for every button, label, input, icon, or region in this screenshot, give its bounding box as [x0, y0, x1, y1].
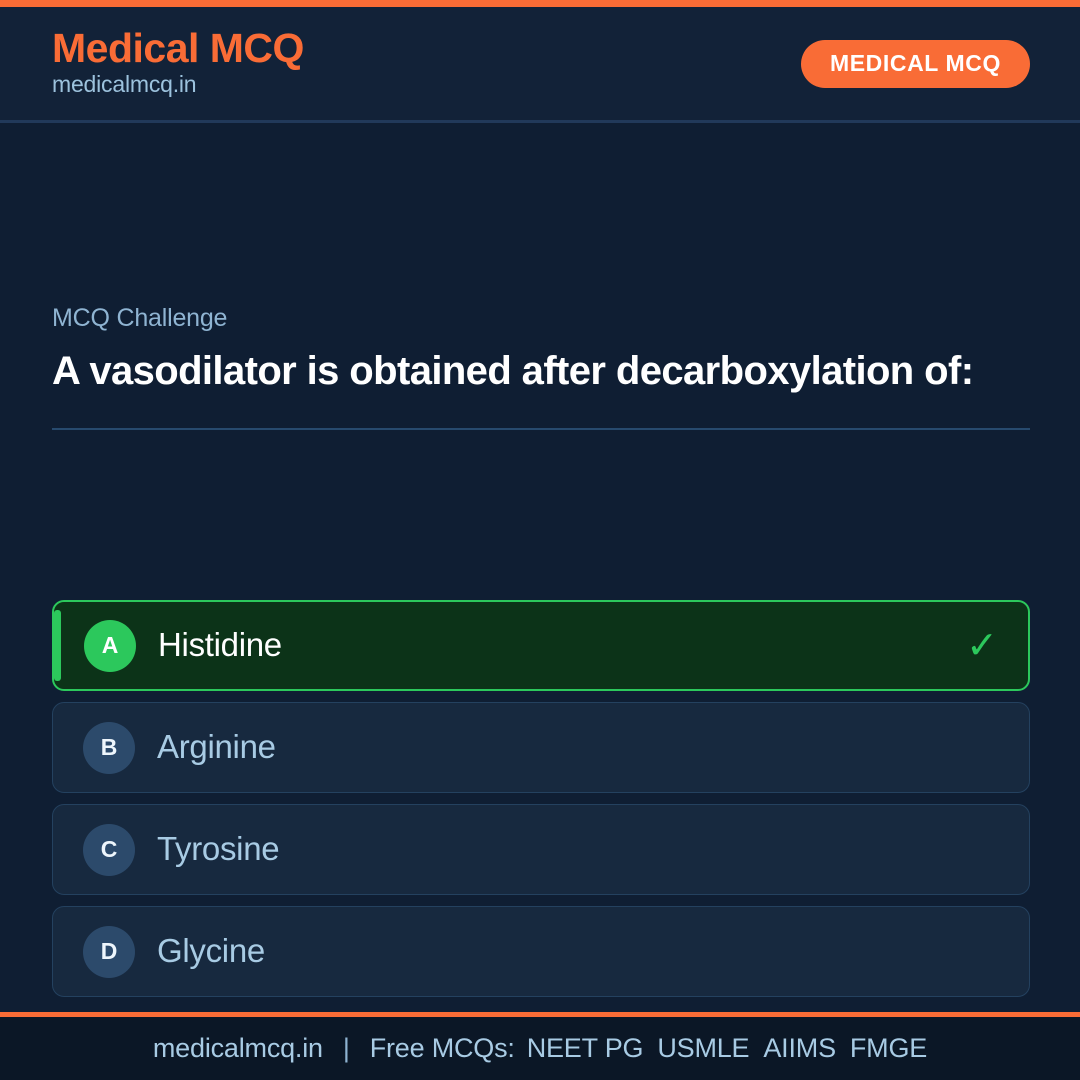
brand-subtitle: medicalmcq.in [52, 71, 304, 97]
page-header: Medical MCQ medicalmcq.in MEDICAL MCQ [0, 7, 1080, 123]
question-text: A vasodilator is obtained after decarbox… [52, 345, 1030, 398]
footer-exam-neet-pg: NEET PG [527, 1035, 644, 1062]
option-c-text: Tyrosine [157, 831, 1003, 867]
question-block: MCQ Challenge A vasodilator is obtained … [52, 303, 1030, 430]
mcq-card: Medical MCQ medicalmcq.in MEDICAL MCQ MC… [0, 0, 1080, 1080]
header-badge: MEDICAL MCQ [801, 40, 1030, 88]
kicker-label: MCQ Challenge [52, 303, 1030, 333]
footer-site: medicalmcq.in [153, 1035, 323, 1062]
option-a-text: Histidine [158, 627, 966, 663]
brand: Medical MCQ medicalmcq.in [52, 27, 304, 97]
footer-exam-usmle: USMLE [657, 1035, 749, 1062]
top-accent-rule [0, 0, 1080, 7]
footer-exam-aiims: AIIMS [763, 1035, 836, 1062]
question-divider [52, 428, 1030, 430]
option-a[interactable]: A Histidine ✓ [52, 600, 1030, 691]
page-footer: medicalmcq.in | Free MCQs: NEET PG USMLE… [0, 1012, 1080, 1080]
option-d-letter: D [83, 926, 135, 978]
option-d-text: Glycine [157, 933, 1003, 969]
check-icon: ✓ [966, 627, 998, 665]
main-content: MCQ Challenge A vasodilator is obtained … [0, 123, 1080, 1012]
option-a-letter: A [84, 620, 136, 672]
correct-accent-bar [54, 610, 61, 681]
footer-exam-fmge: FMGE [850, 1035, 927, 1062]
option-d[interactable]: D Glycine [52, 906, 1030, 997]
footer-separator: | [343, 1035, 350, 1062]
option-c-letter: C [83, 824, 135, 876]
footer-label: Free MCQs: [370, 1035, 515, 1062]
footer-text: medicalmcq.in | Free MCQs: NEET PG USMLE… [153, 1035, 927, 1062]
brand-title: Medical MCQ [52, 27, 304, 70]
option-c[interactable]: C Tyrosine [52, 804, 1030, 895]
option-b-letter: B [83, 722, 135, 774]
options-list: A Histidine ✓ B Arginine C Tyrosine D Gl… [52, 600, 1030, 997]
option-b[interactable]: B Arginine [52, 702, 1030, 793]
option-b-text: Arginine [157, 729, 1003, 765]
